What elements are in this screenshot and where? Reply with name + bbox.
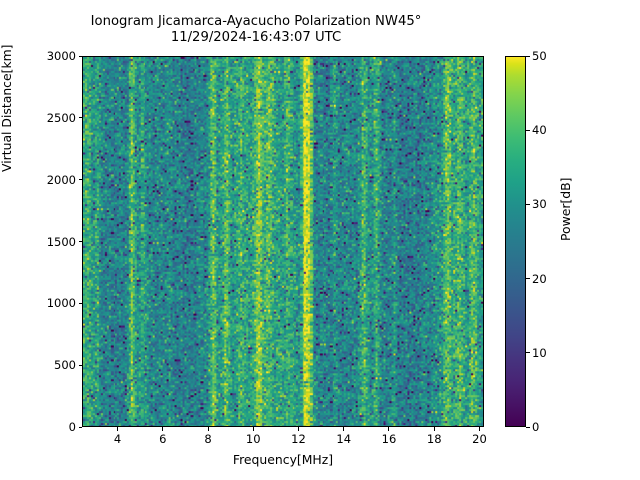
y-tick-label: 2500	[0, 110, 76, 126]
x-tick-mark	[298, 427, 299, 431]
x-tick-mark	[208, 427, 209, 431]
x-tick-mark	[343, 427, 344, 431]
y-tick-mark	[79, 179, 83, 180]
colorbar-tick-label: 0	[532, 419, 539, 435]
x-tick-label: 8	[188, 432, 228, 446]
y-tick-label: 3000	[0, 48, 76, 64]
colorbar-tick-mark	[526, 352, 530, 353]
x-tick-label: 6	[143, 432, 183, 446]
y-tick-label: 500	[0, 357, 76, 373]
y-tick-mark	[79, 365, 83, 366]
heatmap-axes	[82, 56, 484, 427]
colorbar-tick-label: 10	[532, 345, 547, 361]
y-tick-mark	[79, 56, 83, 57]
x-tick-label: 4	[98, 432, 138, 446]
x-tick-mark	[434, 427, 435, 431]
colorbar-tick-mark	[526, 278, 530, 279]
plot-title: Ionogram Jicamarca-Ayacucho Polarization…	[0, 14, 512, 45]
y-tick-mark	[79, 303, 83, 304]
colorbar-tick-mark	[526, 204, 530, 205]
colorbar-label: Power[dB]	[558, 178, 573, 242]
colorbar-tick-label: 40	[532, 122, 547, 138]
x-tick-label: 10	[233, 432, 273, 446]
y-tick-mark	[79, 427, 83, 428]
colorbar-tick-mark	[526, 56, 530, 57]
x-tick-label: 12	[278, 432, 318, 446]
ionogram-figure: Ionogram Jicamarca-Ayacucho Polarization…	[0, 0, 640, 480]
y-tick-label: 0	[0, 419, 76, 435]
x-tick-mark	[253, 427, 254, 431]
colorbar-tick-label: 20	[532, 271, 547, 287]
ionogram-heatmap-canvas	[83, 57, 483, 426]
x-axis-label: Frequency[MHz]	[82, 452, 484, 467]
colorbar-tick-label: 30	[532, 196, 547, 212]
x-tick-mark	[117, 427, 118, 431]
colorbar-tick-mark	[526, 427, 530, 428]
y-tick-label: 1000	[0, 295, 76, 311]
x-tick-label: 18	[414, 432, 454, 446]
x-tick-label: 20	[459, 432, 499, 446]
y-tick-mark	[79, 117, 83, 118]
x-tick-mark	[162, 427, 163, 431]
y-tick-mark	[79, 241, 83, 242]
x-tick-mark	[388, 427, 389, 431]
x-tick-label: 14	[324, 432, 364, 446]
colorbar	[505, 56, 526, 427]
x-tick-mark	[479, 427, 480, 431]
y-tick-label: 2000	[0, 172, 76, 188]
y-tick-label: 1500	[0, 234, 76, 250]
x-tick-label: 16	[369, 432, 409, 446]
colorbar-tick-label: 50	[532, 48, 547, 64]
colorbar-tick-mark	[526, 130, 530, 131]
